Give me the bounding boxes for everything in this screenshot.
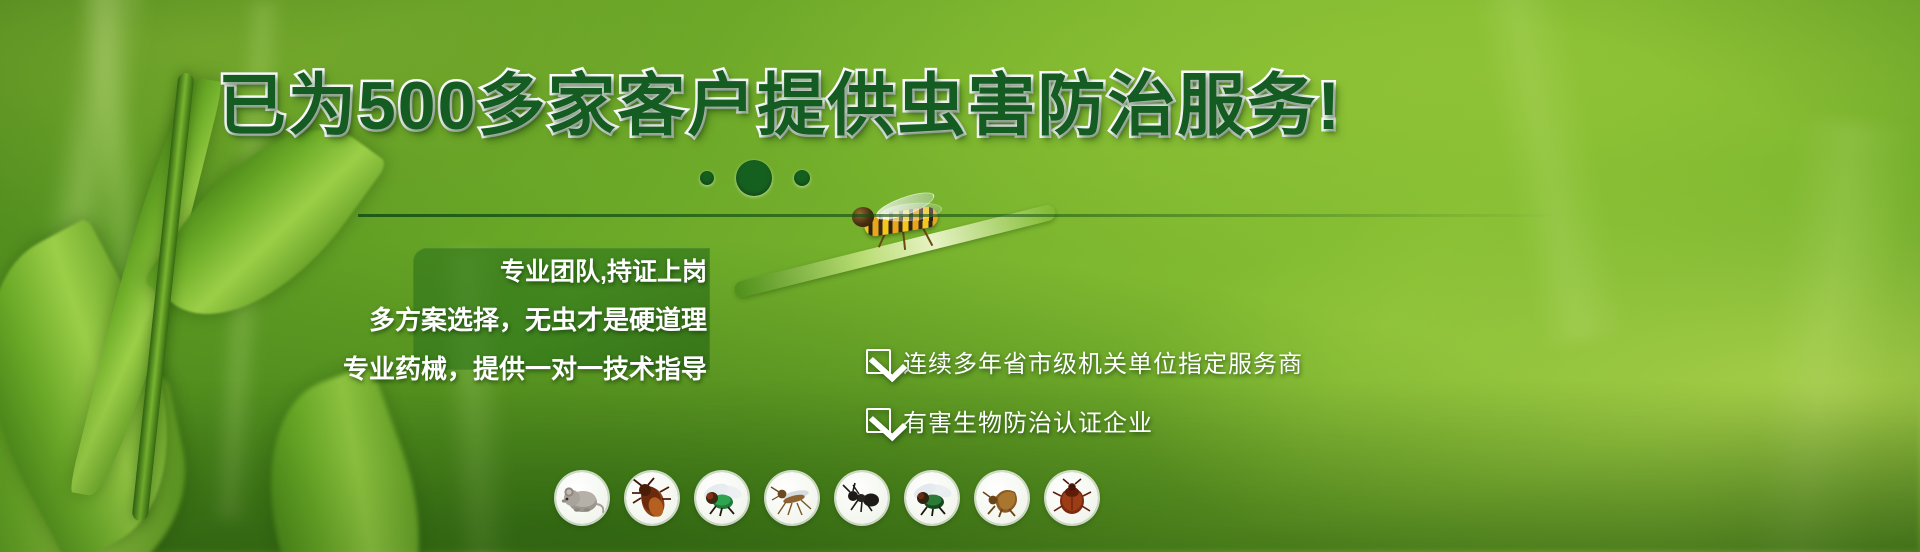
mouse-icon[interactable] (556, 472, 608, 524)
ant-icon[interactable] (836, 472, 888, 524)
dot-medium-icon (794, 170, 810, 186)
dot-large-icon (736, 160, 772, 196)
checklist-item: 有害生物防治认证企业 (866, 403, 1303, 438)
feature-line-3: 专业药械，提供一对一技术指导 (343, 349, 707, 386)
checklist-item-label: 连续多年省市级机关单位指定服务商 (903, 344, 1303, 379)
feature-line-2: 多方案选择，无虫才是硬道理 (369, 300, 707, 337)
page-title-text: 已为500多家客户提供虫害防治服务! (218, 68, 1342, 144)
feature-panel-text: 专业团队,持证上岗 多方案选择，无虫才是硬道理 专业药械，提供一对一技术指导 (345, 252, 725, 386)
page-title: 已为500多家客户提供虫害防治服务! (0, 72, 1560, 140)
cockroach-icon[interactable] (626, 472, 678, 524)
green-fly-icon[interactable] (696, 472, 748, 524)
checklist-item: 连续多年省市级机关单位指定服务商 (866, 344, 1303, 379)
pest-icon-row (556, 472, 1098, 524)
dot-small-icon (700, 171, 714, 185)
promo-banner: 已为500多家客户提供虫害防治服务! 专业团队,持证上岗 多方案选择，无虫才是硬… (0, 0, 1920, 552)
bedbug-icon[interactable] (1046, 472, 1098, 524)
flea-icon[interactable] (976, 472, 1028, 524)
credentials-checklist: 连续多年省市级机关单位指定服务商 有害生物防治认证企业 (866, 344, 1303, 438)
checkbox-check-icon (866, 408, 891, 433)
divider (358, 214, 1558, 217)
checklist-item-label: 有害生物防治认证企业 (903, 403, 1153, 438)
housefly-icon[interactable] (906, 472, 958, 524)
checkbox-check-icon (866, 349, 891, 374)
decorative-dots (700, 160, 810, 196)
feature-line-1: 专业团队,持证上岗 (500, 252, 707, 288)
mosquito-icon[interactable] (766, 472, 818, 524)
